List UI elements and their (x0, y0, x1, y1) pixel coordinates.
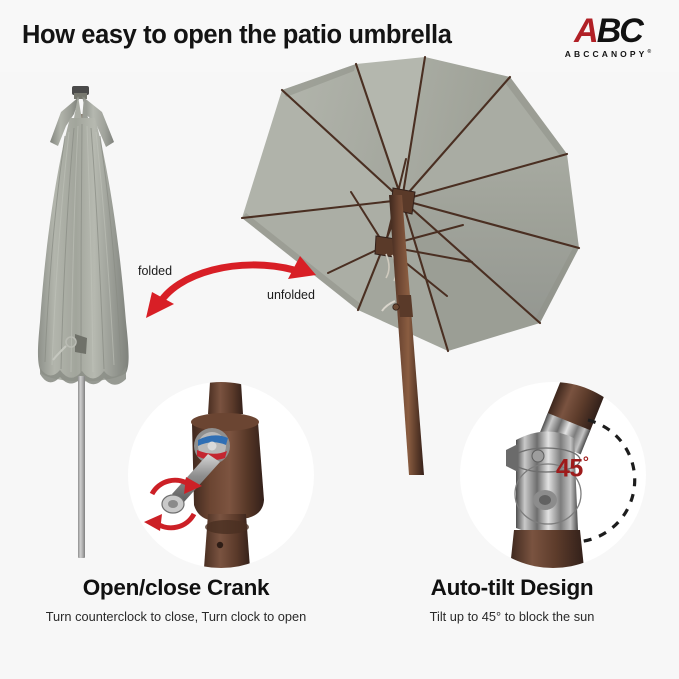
feature-crank-title: Open/close Crank (16, 575, 336, 601)
angle-value: 45 (556, 454, 583, 482)
crank-mechanism-graphic (128, 382, 314, 568)
brand-logo-letter-a: A (574, 12, 597, 50)
folded-umbrella-pole (78, 376, 85, 558)
label-folded: folded (138, 264, 172, 278)
tilt-inset-circle: 45° (460, 382, 646, 568)
feature-tilt-title: Auto-tilt Design (352, 575, 672, 601)
brand-logo-letters-bc: BC (597, 12, 642, 50)
curved-double-arrow-icon (130, 248, 340, 320)
tilt-mechanism-graphic (460, 382, 646, 568)
feature-tilt-description: Tilt up to 45° to block the sun (352, 609, 672, 624)
brand-logo-mark: ABC (549, 14, 667, 48)
crank-inset-circle (128, 382, 314, 568)
folded-canopy-graphic (18, 84, 148, 394)
infographic-canvas: How easy to open the patio umbrella ABC … (0, 0, 679, 679)
label-unfolded: unfolded (267, 288, 315, 302)
angle-degree-symbol: ° (583, 454, 589, 471)
angle-label: 45° (556, 454, 588, 483)
page-title: How easy to open the patio umbrella (22, 21, 452, 50)
feature-crank-description: Turn counterclock to close, Turn clock t… (16, 609, 336, 624)
fold-unfold-annotation: folded unfolded (130, 248, 340, 320)
